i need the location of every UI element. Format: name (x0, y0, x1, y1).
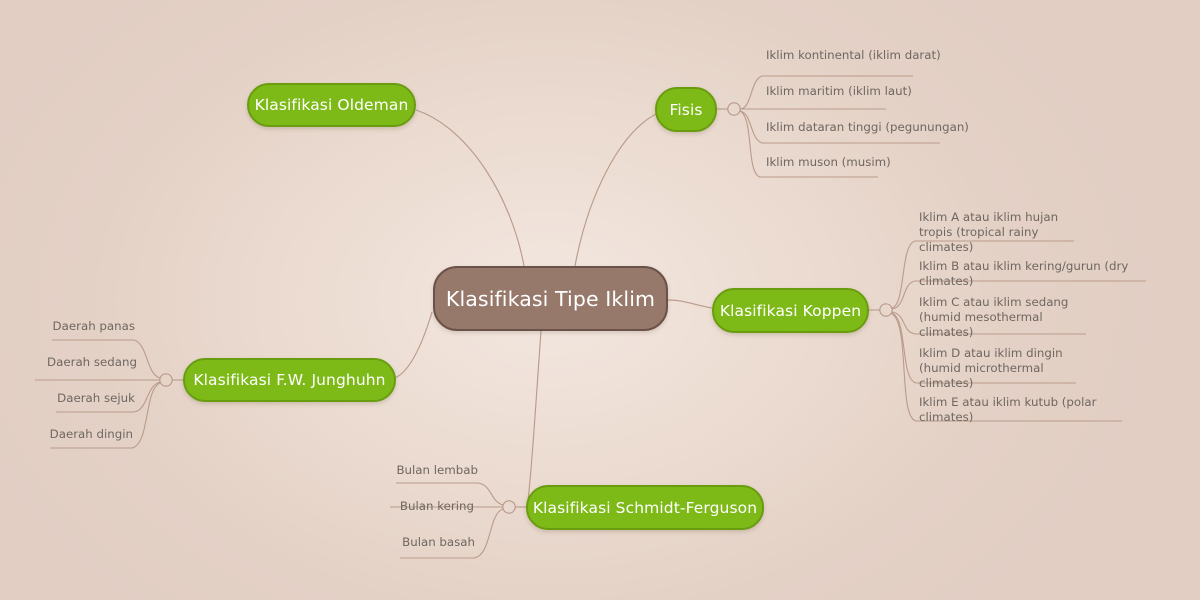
root-node[interactable]: Klasifikasi Tipe Iklim (433, 266, 668, 331)
branch-node-junghuhn-label: Klasifikasi F.W. Junghuhn (193, 371, 385, 389)
leaf-fisis-1[interactable]: Iklim kontinental (iklim darat) (766, 48, 966, 63)
leaf-junghuhn-1[interactable]: Daerah panas (0, 319, 135, 334)
root-node-label: Klasifikasi Tipe Iklim (446, 287, 655, 311)
branch-node-koppen[interactable]: Klasifikasi Koppen (712, 288, 869, 333)
branch-node-schmidt-label: Klasifikasi Schmidt-Ferguson (533, 499, 757, 517)
branch-node-junghuhn[interactable]: Klasifikasi F.W. Junghuhn (183, 358, 396, 402)
branch-node-oldeman[interactable]: Klasifikasi Oldeman (247, 83, 416, 127)
hub-fisis (728, 103, 740, 115)
link-root-schmidt (528, 331, 541, 500)
leaf-junghuhn-3[interactable]: Daerah sejuk (0, 391, 135, 406)
leaf-koppen-2[interactable]: Iklim B atau iklim kering/gurun (dry cli… (919, 259, 1149, 289)
link-root-oldeman (416, 110, 524, 266)
leaf-fisis-4[interactable]: Iklim muson (musim) (766, 155, 966, 170)
leaf-fisis-2[interactable]: Iklim maritim (iklim laut) (766, 84, 966, 99)
branch-node-oldeman-label: Klasifikasi Oldeman (255, 96, 409, 114)
mindmap-canvas: Klasifikasi Tipe Iklim Klasifikasi Oldem… (0, 0, 1200, 600)
hub-junghuhn (160, 374, 172, 386)
hub-koppen (880, 304, 892, 316)
leaf-koppen-1[interactable]: Iklim A atau iklim hujan tropis (tropica… (919, 210, 1079, 255)
branch-node-fisis[interactable]: Fisis (655, 87, 717, 132)
hub-schmidt (503, 501, 515, 513)
leaf-schmidt-1[interactable]: Bulan lembab (340, 463, 478, 478)
branch-node-koppen-label: Klasifikasi Koppen (720, 302, 861, 320)
link-schmidt-3 (400, 509, 503, 558)
branch-node-schmidt[interactable]: Klasifikasi Schmidt-Ferguson (526, 485, 764, 530)
leaf-schmidt-2[interactable]: Bulan kering (340, 499, 474, 514)
leaf-koppen-4[interactable]: Iklim D atau iklim dingin (humid microth… (919, 346, 1081, 391)
leaf-schmidt-3[interactable]: Bulan basah (340, 535, 475, 550)
leaf-koppen-3[interactable]: Iklim C atau iklim sedang (humid mesothe… (919, 295, 1089, 340)
branch-node-fisis-label: Fisis (669, 101, 702, 119)
leaf-junghuhn-4[interactable]: Daerah dingin (0, 427, 133, 442)
leaf-koppen-5[interactable]: Iklim E atau iklim kutub (polar climates… (919, 395, 1129, 425)
leaf-fisis-3[interactable]: Iklim dataran tinggi (pegunungan) (766, 120, 986, 135)
leaf-junghuhn-2[interactable]: Daerah sedang (0, 355, 137, 370)
link-root-koppen (668, 300, 712, 308)
link-root-junghuhn (395, 312, 432, 378)
link-root-fisis (575, 112, 660, 266)
